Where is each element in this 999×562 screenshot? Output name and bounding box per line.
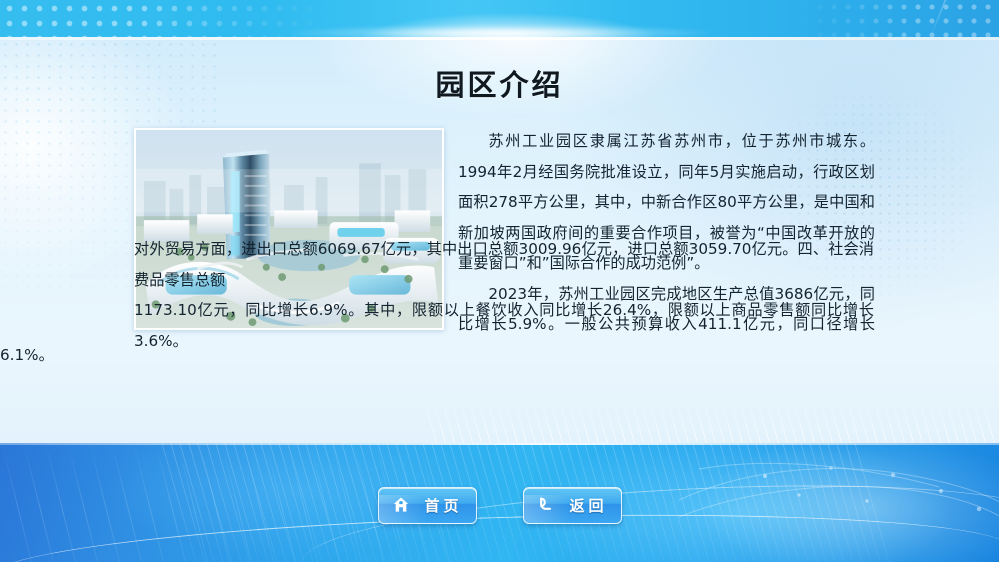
header-dot-pattern-right: [799, 0, 999, 37]
article-paragraph-wide: 对外贸易方面，进出口总额6069.67亿元，其中出口总额3009.96亿元，进口…: [134, 234, 874, 295]
home-button-label: 首页: [420, 495, 462, 516]
back-arrow-icon: [536, 495, 556, 515]
home-button[interactable]: 首页: [378, 487, 477, 524]
page-title: 园区介绍: [0, 62, 999, 104]
article-text-wide: 对外贸易方面，进出口总额6069.67亿元，其中出口总额3009.96亿元，进口…: [134, 234, 874, 356]
header-dot-pattern-left: [0, 0, 330, 37]
home-icon: [391, 495, 411, 515]
header-underline: [0, 37, 999, 40]
article-paragraph-wide: 1173.10亿元，同比增长6.9%。其中，限额以上餐饮收入同比增长26.4%，…: [134, 295, 874, 356]
back-button-label: 返回: [565, 495, 607, 516]
nav-button-group: 首页 返回: [0, 486, 999, 524]
header-center-glow: [290, 25, 710, 37]
back-button[interactable]: 返回: [523, 487, 622, 524]
top-decorative-bar: [0, 0, 999, 37]
page-root: 园区介绍: [0, 0, 999, 562]
